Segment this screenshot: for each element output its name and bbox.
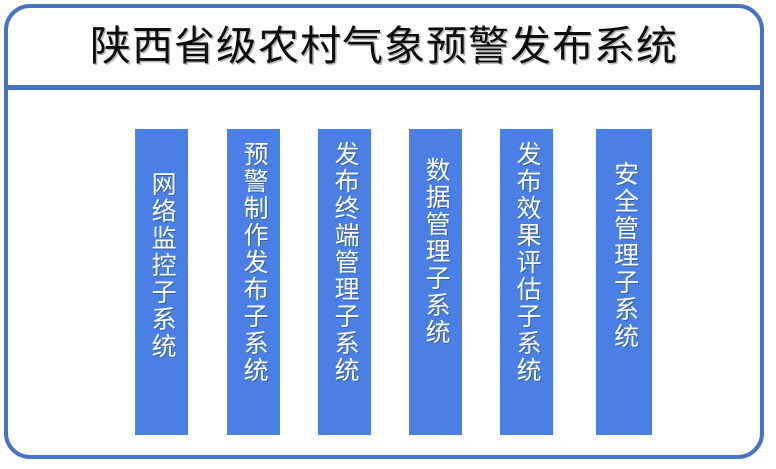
subsystem-column-release-effect-evaluation[interactable]: 发布效果评估子系统 — [500, 129, 553, 435]
page-title: 陕西省级农村气象预警发布系统 — [90, 23, 678, 70]
subsystem-column-security-management[interactable]: 安全管理子系统 — [596, 129, 652, 435]
subsystem-label: 发布效果评估子系统 — [510, 129, 543, 384]
subsystem-column-group: 网络监控子系统 预警制作发布子系统 发布终端管理子系统 数据管理子系统 发布效果… — [0, 129, 776, 435]
diagram-title-area: 陕西省级农村气象预警发布系统 — [4, 8, 764, 85]
subsystem-label: 网络监控子系统 — [145, 129, 178, 360]
title-divider — [4, 85, 764, 90]
subsystem-column-network-monitoring[interactable]: 网络监控子系统 — [135, 129, 188, 435]
subsystem-label: 发布终端管理子系统 — [328, 129, 361, 384]
subsystem-label: 预警制作发布子系统 — [237, 129, 270, 384]
subsystem-label: 数据管理子系统 — [419, 129, 452, 346]
subsystem-column-release-terminal-management[interactable]: 发布终端管理子系统 — [318, 129, 371, 435]
subsystem-column-warning-production-release[interactable]: 预警制作发布子系统 — [227, 129, 280, 435]
diagram-canvas: 陕西省级农村气象预警发布系统 网络监控子系统 预警制作发布子系统 发布终端管理子… — [0, 0, 776, 469]
subsystem-label: 安全管理子系统 — [607, 129, 640, 350]
subsystem-column-data-management[interactable]: 数据管理子系统 — [409, 129, 462, 435]
